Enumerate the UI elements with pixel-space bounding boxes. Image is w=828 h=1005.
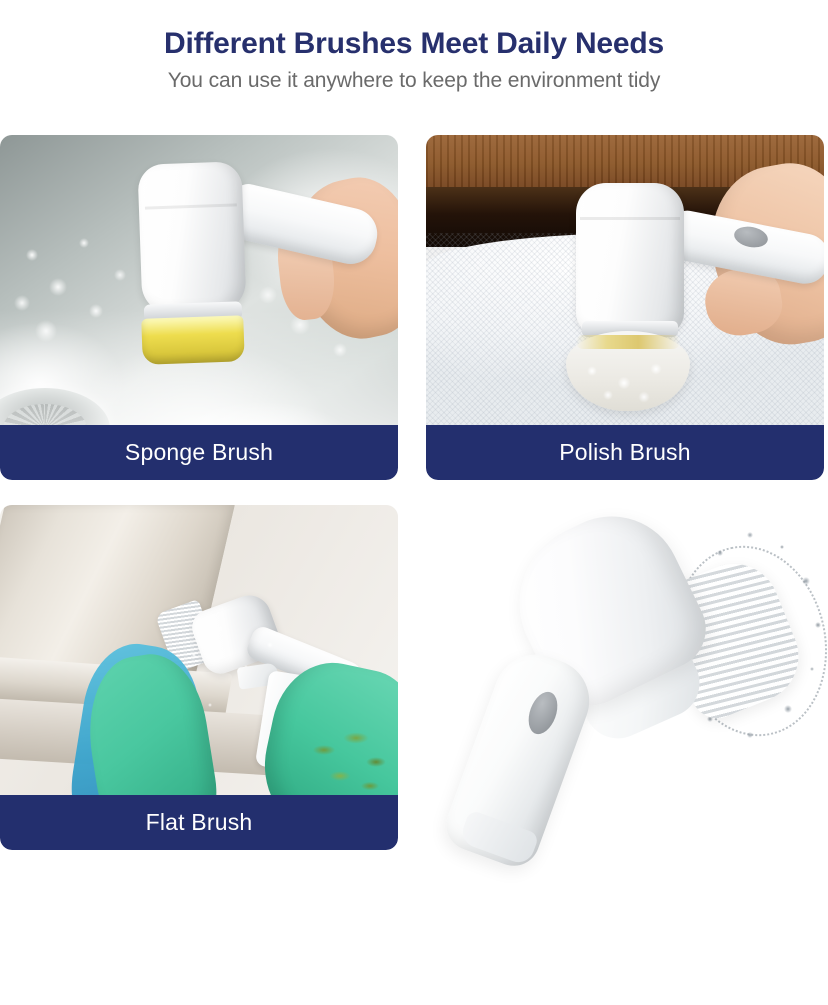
brush-panel-grid: Sponge Brush Polish Brush <box>0 135 828 895</box>
device-motor-body <box>137 161 246 315</box>
header: Different Brushes Meet Daily Needs You c… <box>0 0 828 98</box>
caption-polish-brush: Polish Brush <box>426 425 824 480</box>
page-title: Different Brushes Meet Daily Needs <box>0 24 828 64</box>
sponge-brush-head <box>141 315 245 365</box>
caption-flat-brush: Flat Brush <box>0 795 398 850</box>
panel-flat-brush[interactable]: Flat Brush <box>0 505 398 850</box>
device-motor-body <box>576 183 684 335</box>
caption-sponge-brush: Sponge Brush <box>0 425 398 480</box>
page-subtitle: You can use it anywhere to keep the envi… <box>0 64 828 98</box>
polish-pad-stripe <box>576 335 680 349</box>
panel-sponge-brush[interactable]: Sponge Brush <box>0 135 398 480</box>
product-hero-image <box>426 505 828 1005</box>
plant-leaves <box>304 720 394 800</box>
panel-polish-brush[interactable]: Polish Brush <box>426 135 824 480</box>
